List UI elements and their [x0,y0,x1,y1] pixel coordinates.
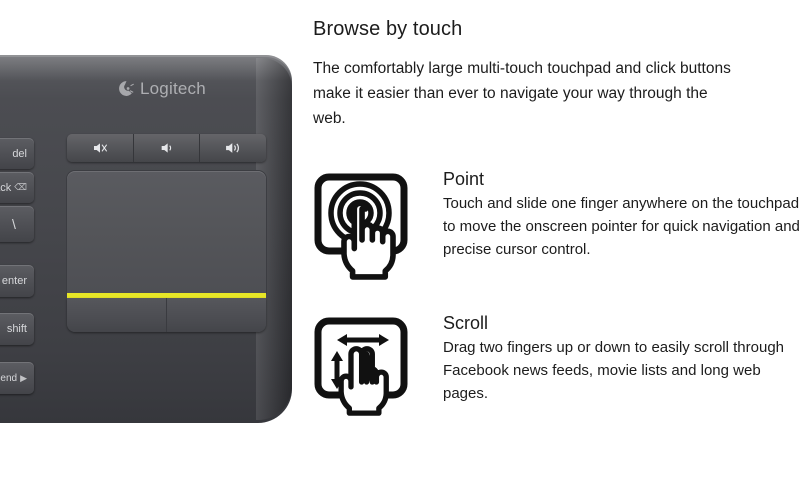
key-sublabel: ⌫ [14,182,27,193]
intro-paragraph: The comfortably large multi-touch touchp… [313,56,731,131]
feature-text: Drag two fingers up or down to easily sc… [443,336,800,405]
left-click-button[interactable] [67,298,167,332]
key-shift[interactable]: shift [0,313,34,345]
speaker-mute-icon [92,141,108,155]
key-label: shift [7,323,27,335]
feature-scroll-body: Scroll Drag two fingers up or down to ea… [443,312,800,405]
logitech-logo-mark-icon [118,80,135,97]
key-backspace[interactable]: ack ⌫ [0,172,34,203]
key-enter[interactable]: enter [0,265,34,297]
speaker-low-icon [159,141,175,155]
feature-text: Touch and slide one finger anywhere on t… [443,192,800,261]
product-photo: Logitech del [0,0,300,480]
media-button-row [67,134,266,162]
feature-point-body: Point Touch and slide one finger anywher… [443,168,800,261]
touchpad-scroll-icon-glyph [313,316,409,426]
key-label: \ [12,216,16,232]
touchpad-surface[interactable] [67,171,266,293]
brand-logo: Logitech [118,80,206,97]
brand-name: Logitech [140,80,206,97]
touchpad-scroll-icon [313,316,409,426]
page-title: Browse by touch [313,18,462,41]
mute-button[interactable] [67,134,134,162]
feature-title: Scroll [443,312,800,334]
key-label: ack [0,182,11,194]
key-label: del [12,148,27,160]
key-sublabel: ▶ [20,373,27,384]
touchpad-point-icon [313,172,409,282]
feature-title: Point [443,168,800,190]
keyboard-top-highlight [0,55,292,81]
click-button-row [67,298,266,332]
content-column: Browse by touch The comfortably large mu… [313,0,800,480]
speaker-high-icon [224,141,242,155]
touchpad-point-icon-glyph [313,172,409,282]
volume-up-button[interactable] [200,134,266,162]
key-backslash[interactable]: \ [0,206,34,242]
key-label: end [0,373,17,384]
key-end[interactable]: end ▶ [0,362,34,394]
right-click-button[interactable] [167,298,266,332]
key-label: enter [2,275,27,287]
volume-down-button[interactable] [134,134,201,162]
key-del[interactable]: del [0,138,34,169]
